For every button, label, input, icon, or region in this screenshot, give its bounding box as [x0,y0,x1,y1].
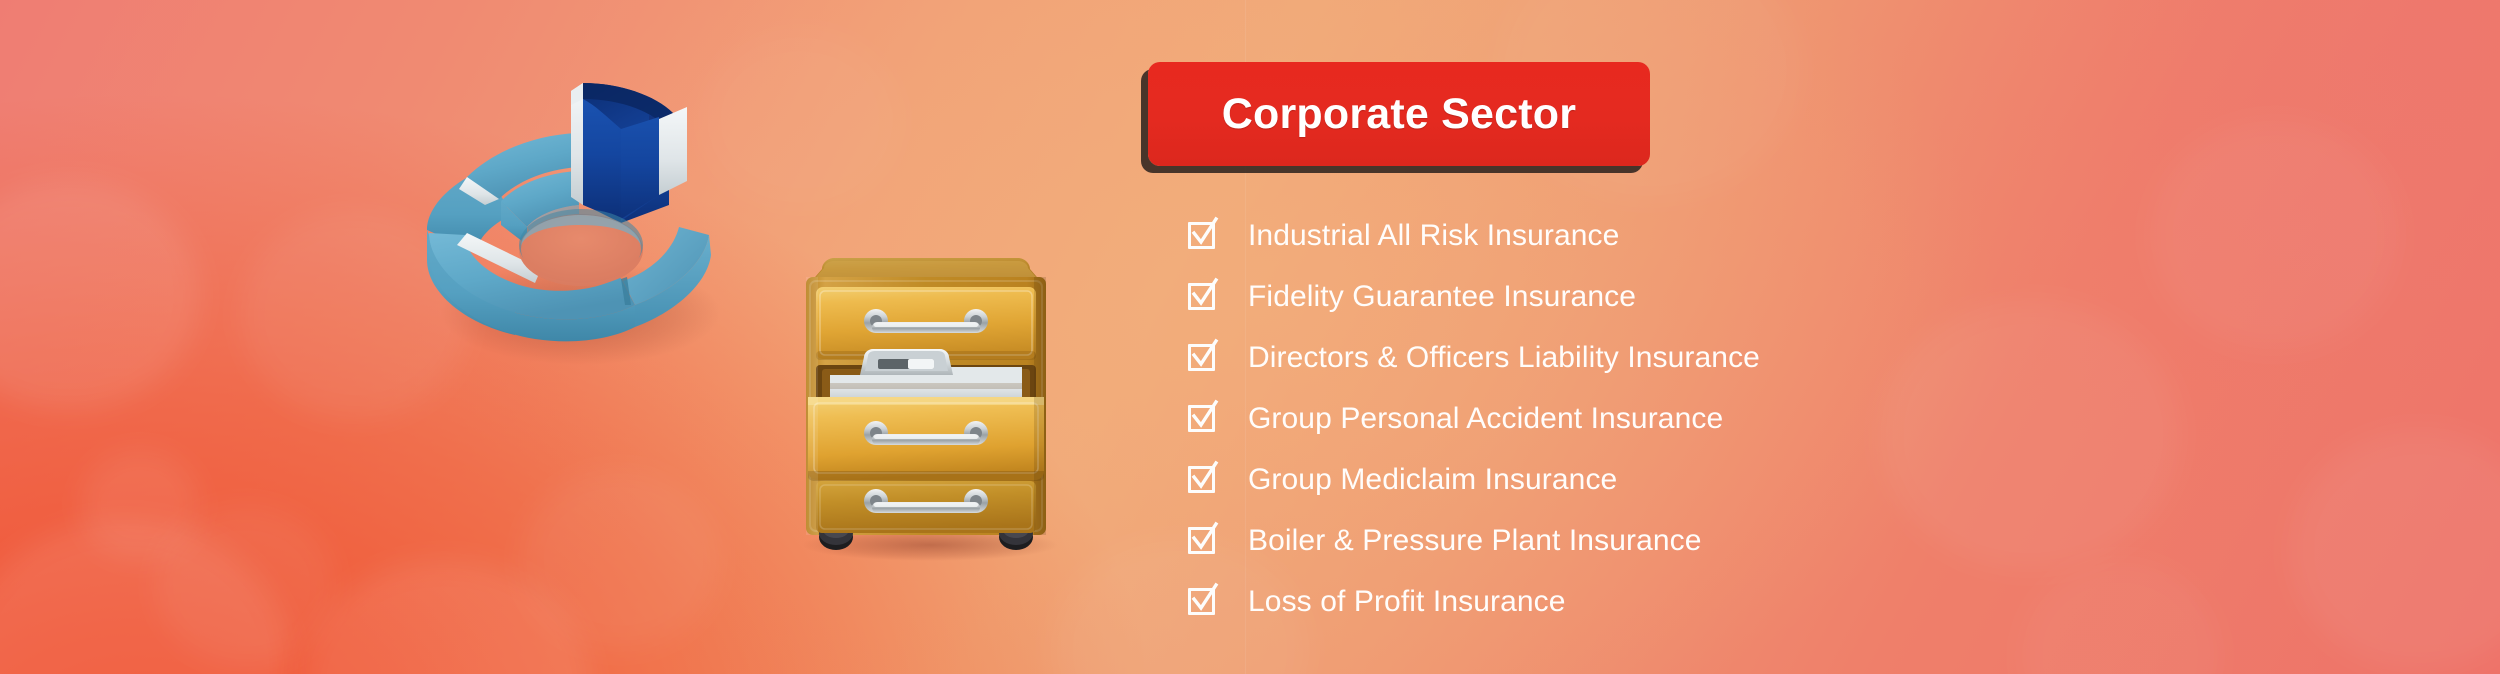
insurance-checklist: Industrial All Risk Insurance Fidelity G… [1188,205,2288,632]
list-item-label: Boiler & Pressure Plant Insurance [1248,524,1702,558]
list-item[interactable]: Group Personal Accident Insurance [1188,388,2288,449]
bokeh-circle [155,505,335,665]
list-item-label: Fidelity Guarantee Insurance [1248,280,1636,314]
page-title: Corporate Sector [1222,90,1576,139]
checkbox-checked-icon[interactable] [1188,466,1215,493]
list-item-label: Group Personal Accident Insurance [1248,402,1723,436]
checkbox-checked-icon[interactable] [1188,283,1215,310]
checkbox-checked-icon[interactable] [1188,527,1215,554]
list-item[interactable]: Loss of Profit Insurance [1188,571,2288,632]
corporate-sector-banner: Corporate Sector Industrial All Risk Ins… [0,0,2500,674]
list-item[interactable]: Directors & Officers Liability Insurance [1188,327,2288,388]
list-item-label: Group Mediclaim Insurance [1248,463,1617,497]
list-item[interactable]: Group Mediclaim Insurance [1188,449,2288,510]
donut-chart-icon [415,55,725,375]
list-item[interactable]: Fidelity Guarantee Insurance [1188,266,2288,327]
filing-cabinet-icon [790,225,1060,555]
list-item-label: Industrial All Risk Insurance [1248,219,1619,253]
bokeh-circle [700,30,900,210]
list-item-label: Directors & Officers Liability Insurance [1248,341,1760,375]
list-item[interactable]: Industrial All Risk Insurance [1188,205,2288,266]
bokeh-circle [520,470,720,650]
section-title-plate: Corporate Sector [1148,62,1650,166]
checkbox-checked-icon[interactable] [1188,344,1215,371]
checkbox-checked-icon[interactable] [1188,588,1215,615]
checkbox-checked-icon[interactable] [1188,222,1215,249]
list-item[interactable]: Boiler & Pressure Plant Insurance [1188,510,2288,571]
checkbox-checked-icon[interactable] [1188,405,1215,432]
list-item-label: Loss of Profit Insurance [1248,585,1566,619]
